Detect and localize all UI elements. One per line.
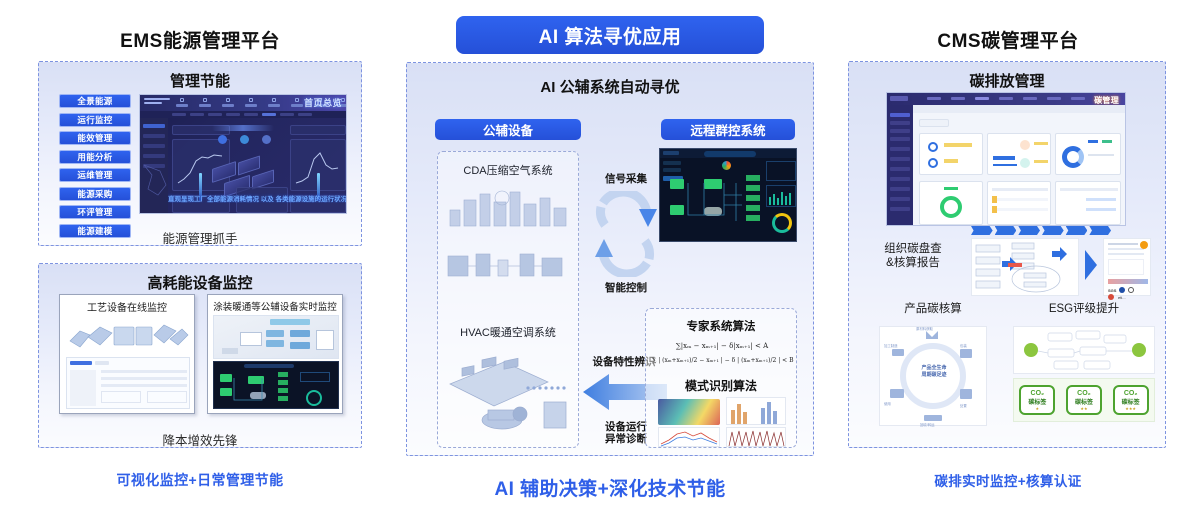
block-inventory-illustration: SGS eti... [971,226,1153,298]
dashboard-logo-icon [144,98,170,106]
subpanel-label-process: 工艺设备在线监控 [60,299,194,314]
right-arrow-icon [1083,248,1099,282]
svg-text:原材料获取: 原材料获取 [916,327,934,331]
label-intelligent-control: 智能控制 [583,282,669,294]
cms-platform-title: CMS碳管理平台 [838,26,1178,53]
cms-top-menu [927,97,1109,100]
remote-control-screenshot [659,148,797,242]
dashboard-home-overview-label: 首页总览 [304,96,342,109]
label-signal-acquisition: 信号采集 [583,173,669,185]
cycle-arrows-icon [589,191,661,277]
column-ems: EMS能源管理平台 管理节能 全景能源 运行监控 能效管理 用能分析 运维管理 … [20,0,380,517]
svg-text:处置: 处置 [960,403,967,408]
svg-text:使用: 使用 [884,401,891,406]
panel-high-consumption-monitoring: 高耗能设备监控 工艺设备在线监控 [38,263,362,448]
histogram-thumbnail [726,397,786,425]
hvac-scada-screen [213,361,339,409]
footer-right: 碳排实时监控+核算认证 [838,470,1178,490]
panel-carbon-emission-management: 碳排放管理 碳管理 [848,61,1166,448]
nav-item-efficiency-management[interactable]: 能效管理 [59,131,131,145]
label-hvac-system: HVAC暖通空调系统 [438,324,578,340]
panel-title-carbon-emission: 碳排放管理 [849,70,1165,91]
scada-bar-chart [768,189,794,205]
carbon-label-badge: CO₂ 碳标签 ★ [1019,385,1055,415]
nav-item-ops-management[interactable]: 运维管理 [59,168,131,182]
cms-logo-icon [890,96,908,101]
footer-center: AI 辅助决策+深化技术节能 [400,474,820,501]
cms-sidebar [887,105,913,225]
ems-nav-list: 全景能源 运行监控 能效管理 用能分析 运维管理 能源采购 环评管理 能源建模 [59,94,131,242]
cda-equipment-illustration [446,184,572,246]
label-product-carbon: 产品碳核算 [863,302,1003,316]
nav-item-consumption-analysis[interactable]: 用能分析 [59,150,131,164]
svg-text:包装: 包装 [960,343,967,348]
subpanel-process-equipment-monitoring: 工艺设备在线监控 [59,294,195,414]
panel-management-energy-saving: 管理节能 全景能源 运行监控 能效管理 用能分析 运维管理 能源采购 环评管理 … [38,61,362,246]
flowchart-thumbnail [971,238,1079,296]
cms-card-ring [919,181,983,225]
ems-dashboard-screenshot: 首页总览 [139,94,347,214]
cms-dashboard-screenshot: 碳管理 [886,92,1126,226]
label-diagnosis-line2: 异常诊断 [605,433,647,445]
cms-card-list [1055,181,1121,225]
oscillation-thumbnail [726,427,786,447]
dashboard-network-graphic [142,155,170,205]
label-expert-system-algorithm: 专家系统算法 [646,318,796,334]
hvac-layout-illustration [213,315,339,359]
cda-flow-diagram [446,248,572,282]
subpanel-hvac-realtime-monitoring: 涂装暖通等公辅设备实时监控 [207,294,343,414]
process-chevrons [971,226,1111,235]
dashboard-kpi-icon [218,135,227,144]
dashboard-overlay-text: 直观呈现工厂全部能源消耗情况 以及 各类能源设施的运行状况 [168,193,346,203]
report-thumbnail: SGS eti... [1103,238,1151,296]
carbon-label-badge: CO₂ 碳标签 ★★ [1066,385,1102,415]
pill-utility-equipment: 公辅设备 [435,119,581,140]
label-inventory-line1: 组织碳盘查 [884,243,942,255]
cms-card-table [987,181,1051,225]
nav-item-panoramic-energy[interactable]: 全景能源 [59,94,131,108]
block-esg-rating: ESG评级提升 [1009,302,1159,432]
footer-left: 可视化监控+日常管理节能 [20,470,380,490]
cms-card [987,133,1051,175]
timeseries-thumbnail [658,427,720,447]
formula-expert-2: ∑ | (xₘ+xₘ₊₁)/2 − xₘ₊₁ | − δ | (xₘ+xₘ₊₁)… [652,357,792,364]
cms-card [919,133,983,175]
process-table-panel [66,357,190,409]
nav-item-energy-procurement[interactable]: 能源采购 [59,187,131,201]
label-carbon-inventory: 组织碳盘查 &核算报告 [863,242,963,271]
svg-text:回收/转运: 回收/转运 [920,422,935,427]
dashboard-card [290,125,346,135]
block-product-carbon-accounting: 产品碳核算 产品全生命周期碳足迹 [863,302,1003,432]
label-esg-rating: ESG评级提升 [1009,302,1159,316]
nav-item-operation-monitoring[interactable]: 运行监控 [59,113,131,127]
infographic-root: EMS能源管理平台 管理节能 全景能源 运行监控 能效管理 用能分析 运维管理 … [0,0,1184,517]
hvac-equipment-illustration [444,348,576,440]
dashboard-kpi-icon [240,135,249,144]
panel-title-management: 管理节能 [39,70,361,91]
label-pattern-recognition-algorithm: 模式识别算法 [646,377,796,394]
box-utility-equipment: CDA压缩空气系统 [437,151,579,448]
column-ai: AI 算法寻优应用 AI 公辅系统自动寻优 公辅设备 远程群控系统 CDA压缩空… [400,0,820,517]
process-equipment-illustration [66,315,190,357]
caption-energy-management-handle: 能源管理抓手 [20,228,380,247]
ai-algorithm-title-pill: AI 算法寻优应用 [456,16,764,54]
formula-expert-1: ∑|xₘ − xₘ₊₁| − δ|xₘ₊₁| < A [652,342,792,350]
cms-card-donut [1055,133,1121,175]
surface-plot-thumbnail [658,399,720,425]
svg-text:加工制造: 加工制造 [884,343,898,348]
label-cda-system: CDA压缩空气系统 [438,162,578,178]
cms-tabbar [913,105,1125,113]
panel-title-high-consumption: 高耗能设备监控 [39,272,361,293]
dashboard-kpi-icon [262,135,271,144]
caption-cost-reduction: 降本增效先锋 [20,430,380,449]
carbon-label-badge: CO₂ 碳标签 ★★★ [1113,385,1149,415]
lifecycle-diagram: 产品全生命周期碳足迹 原材料获取加工制造 使用回收/转运 [879,326,987,426]
ems-platform-title: EMS能源管理平台 [20,26,380,53]
cms-filter [919,119,949,127]
block-carbon-inventory: 组织碳盘查 &核算报告 [863,230,963,296]
pill-remote-control-system: 远程群控系统 [661,119,795,140]
column-cms: CMS碳管理平台 碳排放管理 碳管理 [838,0,1178,517]
panel-title-ai-optimization: AI 公辅系统自动寻优 [407,76,813,97]
dashboard-center-header [212,125,274,131]
carbon-label-badges: CO₂ 碳标签 ★ CO₂ 碳标签 ★★ CO₂ 碳标签 ★★★ [1013,378,1155,422]
esg-network-diagram [1013,326,1155,374]
dashboard-tabbar [140,111,346,118]
panel-ai-auto-optimization: AI 公辅系统自动寻优 公辅设备 远程群控系统 CDA压缩空气系统 [406,62,814,456]
box-algorithms: 专家系统算法 ∑|xₘ − xₘ₊₁| − δ|xₘ₊₁| < A ∑ | (x… [645,308,797,448]
label-diagnosis-line1: 设备运行 [605,421,647,433]
subpanel-label-hvac: 涂装暖通等公辅设备实时监控 [208,299,342,313]
nav-item-env-assessment[interactable]: 环评管理 [59,205,131,219]
label-inventory-line2: &核算报告 [886,257,940,269]
